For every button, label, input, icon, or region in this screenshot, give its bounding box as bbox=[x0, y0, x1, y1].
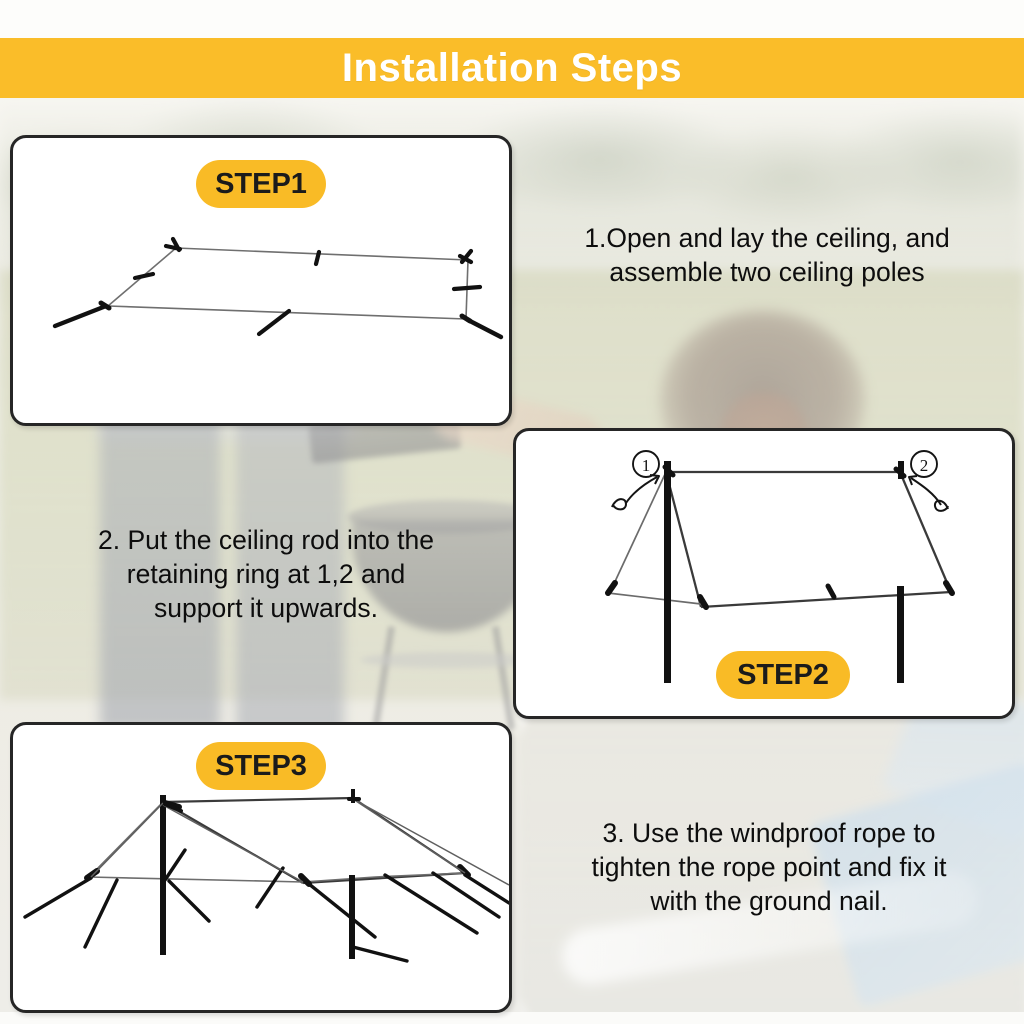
step2-instruction-line-1: 2. Put the ceiling rod into the bbox=[46, 524, 486, 558]
step2-instruction-line-2: retaining ring at 1,2 and bbox=[46, 558, 486, 592]
infographic-page: Installation Steps bbox=[0, 0, 1024, 1024]
step1-badge: STEP1 bbox=[196, 160, 326, 208]
step3-instruction-line-2: tighten the rope point and fix it bbox=[534, 851, 1004, 885]
step3-instruction-line-1: 3. Use the windproof rope to bbox=[534, 817, 1004, 851]
step3-badge: STEP3 bbox=[196, 742, 326, 790]
header-banner: Installation Steps bbox=[0, 38, 1024, 98]
svg-text:1: 1 bbox=[642, 456, 651, 475]
step1-instruction-line-2: assemble two ceiling poles bbox=[528, 256, 1006, 290]
step1-instruction-line-1: 1.Open and lay the ceiling, and bbox=[528, 222, 1006, 256]
svg-text:2: 2 bbox=[920, 456, 929, 475]
step2-instruction: 2. Put the ceiling rod into the retainin… bbox=[46, 524, 486, 626]
background-bottom-margin bbox=[0, 1012, 1024, 1024]
step3-instruction: 3. Use the windproof rope to tighten the… bbox=[534, 817, 1004, 919]
step2-instruction-line-3: support it upwards. bbox=[46, 592, 486, 626]
background-top-margin bbox=[0, 0, 1024, 40]
step1-instruction: 1.Open and lay the ceiling, and assemble… bbox=[528, 222, 1006, 290]
page-title: Installation Steps bbox=[342, 48, 682, 88]
step3-instruction-line-3: with the ground nail. bbox=[534, 885, 1004, 919]
step2-badge: STEP2 bbox=[716, 651, 850, 699]
